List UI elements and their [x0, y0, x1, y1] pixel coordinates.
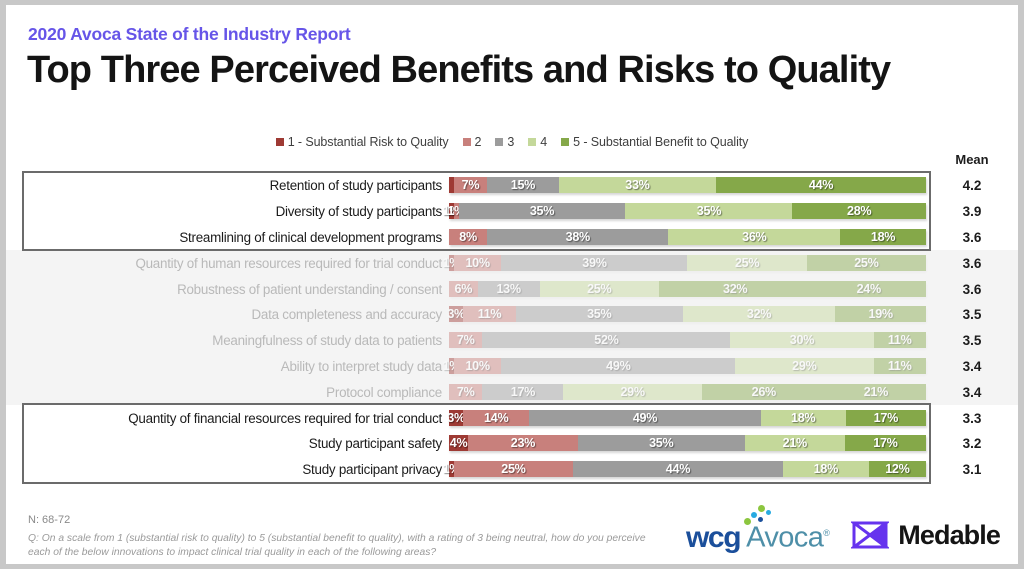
bar-segment[interactable]: 11%: [463, 306, 515, 322]
mean-value: 3.5: [926, 307, 1018, 322]
table-row: Streamlining of clinical development pro…: [6, 225, 1018, 251]
row-label: Quantity of human resources required for…: [6, 256, 449, 271]
table-row: Robustness of patient understanding / co…: [6, 276, 1018, 302]
segment-value-label: 24%: [857, 282, 881, 296]
stacked-bar[interactable]: 3%11%35%32%19%: [449, 306, 926, 322]
table-row: Data completeness and accuracy3%11%35%32…: [6, 302, 1018, 328]
bar-segment[interactable]: 11%: [874, 332, 926, 348]
segment-value-label: 3%: [447, 307, 465, 321]
bar-segment[interactable]: 19%: [835, 306, 926, 322]
medable-logo-text: Medable: [898, 520, 1000, 551]
segment-value-label: 28%: [847, 204, 871, 218]
mean-value: 3.4: [926, 359, 1018, 374]
segment-value-label: 7%: [457, 333, 475, 347]
row-label: Meaningfulness of study data to patients: [6, 333, 449, 348]
segment-value-label: 35%: [587, 307, 611, 321]
legend-label: 5 - Substantial Benefit to Quality: [573, 135, 748, 149]
legend-item-5[interactable]: 5 - Substantial Benefit to Quality: [561, 135, 748, 149]
stacked-bar[interactable]: 3%14%49%18%17%: [449, 410, 926, 426]
bar-segment[interactable]: 3%: [449, 306, 463, 322]
bar-track: 1%25%44%18%12%: [449, 461, 926, 478]
bar-track: 7%52%30%11%: [449, 332, 926, 349]
segment-value-label: 18%: [791, 411, 815, 425]
mean-column-header: Mean: [936, 152, 1008, 167]
bar-segment[interactable]: 18%: [840, 229, 926, 245]
bar-segment[interactable]: 21%: [826, 384, 926, 400]
segment-value-label: 11%: [478, 307, 502, 321]
segment-value-label: 49%: [633, 411, 657, 425]
bar-segment[interactable]: 7%: [449, 332, 482, 348]
segment-value-label: 10%: [465, 256, 489, 270]
slide-canvas: 2020 Avoca State of the Industry Report …: [6, 5, 1018, 564]
segment-value-label: 13%: [496, 282, 520, 296]
bar-segment[interactable]: 49%: [501, 358, 735, 374]
bar-segment[interactable]: 18%: [783, 461, 869, 477]
segment-value-label: 21%: [783, 436, 807, 450]
segment-value-label: 32%: [723, 282, 747, 296]
bar-segment[interactable]: 24%: [811, 281, 925, 297]
bar-segment[interactable]: 7%: [454, 177, 487, 193]
segment-value-label: 10%: [465, 359, 489, 373]
row-label: Ability to interpret study data: [6, 359, 449, 374]
bar-segment[interactable]: 32%: [683, 306, 836, 322]
segment-value-label: 35%: [649, 436, 673, 450]
segment-value-label: 17%: [874, 411, 898, 425]
segment-value-label: 36%: [742, 230, 766, 244]
segment-value-label: 30%: [790, 333, 814, 347]
stacked-bar[interactable]: 4%23%35%21%17%: [449, 435, 926, 451]
mean-value: 3.2: [926, 436, 1018, 451]
bar-segment[interactable]: 33%: [559, 177, 716, 193]
bar-track: 3%14%49%18%17%: [449, 410, 926, 427]
table-row: Meaningfulness of study data to patients…: [6, 328, 1018, 354]
mean-value: 3.6: [926, 230, 1018, 245]
bar-segment[interactable]: 35%: [625, 203, 792, 219]
bar-segment[interactable]: 49%: [529, 410, 760, 426]
wcg-avoca-logo: wcg Avoca®: [686, 518, 829, 553]
stacked-bar[interactable]: 6%13%25%32%24%: [449, 281, 926, 297]
wcg-logo-text: wcg: [686, 523, 740, 553]
sample-size-note: N: 68-72: [28, 514, 70, 526]
row-label: Protocol compliance: [6, 385, 449, 400]
bar-track: 1%1%35%35%28%: [449, 203, 926, 220]
bar-segment[interactable]: 15%: [487, 177, 559, 193]
bar-segment[interactable]: 6%: [449, 281, 478, 297]
bar-segment[interactable]: 52%: [482, 332, 730, 348]
table-row: Quantity of financial resources required…: [6, 405, 1018, 431]
bar-segment[interactable]: 21%: [745, 435, 845, 451]
legend-item-4[interactable]: 4: [528, 135, 547, 149]
report-kicker: 2020 Avoca State of the Industry Report: [28, 24, 351, 45]
legend-swatch-icon: [463, 138, 471, 146]
medable-logo: Medable: [851, 520, 1000, 551]
legend-label: 3: [507, 135, 514, 149]
bar-segment[interactable]: 18%: [761, 410, 846, 426]
segment-value-label: 39%: [582, 256, 606, 270]
segment-value-label: 4%: [450, 436, 468, 450]
legend-swatch-icon: [276, 138, 284, 146]
row-label: Quantity of financial resources required…: [6, 411, 449, 426]
logo-group: wcg Avoca® Medable: [686, 518, 1000, 553]
bar-segment[interactable]: 13%: [478, 281, 540, 297]
bar-segment[interactable]: 29%: [563, 384, 701, 400]
stacked-bar[interactable]: 7%17%29%26%21%: [449, 384, 926, 400]
bar-track: 7%15%33%44%: [449, 177, 926, 194]
bar-segment[interactable]: 38%: [487, 229, 668, 245]
bar-track: 4%23%35%21%17%: [449, 435, 926, 452]
bar-segment[interactable]: 7%: [449, 384, 482, 400]
table-row: Protocol compliance7%17%29%26%21%3.4: [6, 379, 1018, 405]
bar-track: 3%11%35%32%19%: [449, 306, 926, 323]
segment-value-label: 25%: [854, 256, 878, 270]
stacked-bar[interactable]: 7%52%30%11%: [449, 332, 926, 348]
segment-value-label: 35%: [697, 204, 721, 218]
bar-segment[interactable]: 17%: [846, 410, 926, 426]
segment-value-label: 8%: [459, 230, 477, 244]
segment-value-label: 18%: [814, 462, 838, 476]
row-label: Study participant privacy: [6, 462, 449, 477]
segment-value-label: 15%: [511, 178, 535, 192]
legend-item-2[interactable]: 2: [463, 135, 482, 149]
legend-swatch-icon: [561, 138, 569, 146]
legend-label: 2: [475, 135, 482, 149]
mean-value: 4.2: [926, 178, 1018, 193]
legend-swatch-icon: [495, 138, 503, 146]
bar-track: 7%17%29%26%21%: [449, 384, 926, 401]
bar-segment[interactable]: 32%: [659, 281, 812, 297]
segment-value-label: 44%: [809, 178, 833, 192]
bar-segment[interactable]: 36%: [668, 229, 840, 245]
segment-value-label: 49%: [606, 359, 630, 373]
wcg-dots-icon: [742, 505, 772, 527]
bar-segment[interactable]: 25%: [540, 281, 659, 297]
bar-track: 1%10%39%25%25%: [449, 255, 926, 272]
mean-value: 3.9: [926, 204, 1018, 219]
segment-value-label: 25%: [501, 462, 525, 476]
segment-value-label: 44%: [666, 462, 690, 476]
legend-item-1[interactable]: 1 - Substantial Risk to Quality: [276, 135, 449, 149]
table-row: Study participant safety4%23%35%21%17%3.…: [6, 431, 1018, 457]
mean-value: 3.5: [926, 333, 1018, 348]
row-label: Diversity of study participants: [6, 204, 449, 219]
segment-value-label: 25%: [735, 256, 759, 270]
row-label: Data completeness and accuracy: [6, 307, 449, 322]
stacked-bar[interactable]: 1%1%35%35%28%: [449, 203, 926, 219]
bar-segment[interactable]: 44%: [573, 461, 783, 477]
bar-segment[interactable]: 23%: [468, 435, 578, 451]
segment-value-label: 12%: [885, 462, 909, 476]
segment-value-label: 38%: [566, 230, 590, 244]
legend-label: 1 - Substantial Risk to Quality: [288, 135, 449, 149]
stacked-bar[interactable]: 8%38%36%18%: [449, 229, 926, 245]
bar-segment[interactable]: 12%: [869, 461, 926, 477]
bar-segment[interactable]: 11%: [874, 358, 926, 374]
table-row: Quantity of human resources required for…: [6, 250, 1018, 276]
page-title: Top Three Perceived Benefits and Risks t…: [27, 49, 890, 92]
row-label: Robustness of patient understanding / co…: [6, 282, 449, 297]
bar-track: 1%10%49%29%11%: [449, 358, 926, 375]
bar-segment[interactable]: 25%: [807, 255, 926, 271]
segment-value-label: 7%: [457, 385, 475, 399]
segment-value-label: 17%: [873, 436, 897, 450]
table-row: Study participant privacy1%25%44%18%12%3…: [6, 457, 1018, 483]
segment-value-label: 6%: [455, 282, 473, 296]
mean-value: 3.6: [926, 256, 1018, 271]
segment-value-label: 26%: [752, 385, 776, 399]
mean-value: 3.6: [926, 282, 1018, 297]
bar-segment[interactable]: 26%: [702, 384, 826, 400]
stacked-bar[interactable]: 1%10%49%29%11%: [449, 358, 926, 374]
bar-segment[interactable]: 35%: [459, 203, 626, 219]
table-row: Ability to interpret study data1%10%49%2…: [6, 354, 1018, 380]
mean-value: 3.1: [926, 462, 1018, 477]
segment-value-label: 11%: [888, 333, 912, 347]
legend-label: 4: [540, 135, 547, 149]
segment-value-label: 32%: [747, 307, 771, 321]
segment-value-label: 25%: [587, 282, 611, 296]
row-label: Retention of study participants: [6, 178, 449, 193]
stacked-bar[interactable]: 1%25%44%18%12%: [449, 461, 926, 477]
stacked-bar[interactable]: 1%10%39%25%25%: [449, 255, 926, 271]
segment-value-label: 29%: [792, 359, 816, 373]
mean-value: 3.4: [926, 385, 1018, 400]
medable-mark-icon: [851, 520, 889, 550]
bar-segment[interactable]: 4%: [449, 435, 468, 451]
segment-value-label: 19%: [868, 307, 892, 321]
stacked-bar[interactable]: 7%15%33%44%: [449, 177, 926, 193]
bar-segment[interactable]: 10%: [454, 255, 502, 271]
bar-segment[interactable]: 25%: [454, 461, 573, 477]
bar-segment[interactable]: 29%: [735, 358, 873, 374]
segment-value-label: 35%: [530, 204, 554, 218]
bar-track: 6%13%25%32%24%: [449, 281, 926, 298]
stacked-bar-chart: Retention of study participants7%15%33%4…: [6, 173, 1018, 485]
segment-value-label: 17%: [511, 385, 535, 399]
segment-value-label: 14%: [484, 411, 508, 425]
bar-segment[interactable]: 14%: [463, 410, 529, 426]
bar-segment[interactable]: 10%: [454, 358, 502, 374]
segment-value-label: 11%: [888, 359, 912, 373]
row-label: Streamlining of clinical development pro…: [6, 230, 449, 245]
segment-value-label: 52%: [594, 333, 618, 347]
row-label: Study participant safety: [6, 436, 449, 451]
bar-track: 8%38%36%18%: [449, 229, 926, 246]
chart-legend: 1 - Substantial Risk to Quality2345 - Su…: [6, 135, 1018, 149]
mean-value: 3.3: [926, 411, 1018, 426]
table-row: Diversity of study participants1%1%35%35…: [6, 199, 1018, 225]
segment-value-label: 21%: [864, 385, 888, 399]
bar-segment[interactable]: 44%: [716, 177, 926, 193]
segment-value-label: 33%: [625, 178, 649, 192]
legend-item-3[interactable]: 3: [495, 135, 514, 149]
bar-segment[interactable]: 17%: [845, 435, 926, 451]
segment-value-label: 23%: [511, 436, 535, 450]
bar-segment[interactable]: 30%: [730, 332, 873, 348]
question-note: Q: On a scale from 1 (substantial risk t…: [28, 532, 668, 560]
legend-swatch-icon: [528, 138, 536, 146]
bar-segment[interactable]: 17%: [482, 384, 563, 400]
bar-segment[interactable]: 35%: [516, 306, 683, 322]
segment-value-label: 7%: [462, 178, 480, 192]
table-row: Retention of study participants7%15%33%4…: [6, 173, 1018, 199]
segment-value-label: 18%: [871, 230, 895, 244]
bar-segment[interactable]: 35%: [578, 435, 745, 451]
bar-segment[interactable]: 39%: [501, 255, 687, 271]
bar-segment[interactable]: 25%: [687, 255, 806, 271]
segment-value-label: 29%: [620, 385, 644, 399]
bar-segment[interactable]: 8%: [449, 229, 487, 245]
bar-segment[interactable]: 3%: [449, 410, 463, 426]
bar-segment[interactable]: 28%: [792, 203, 926, 219]
